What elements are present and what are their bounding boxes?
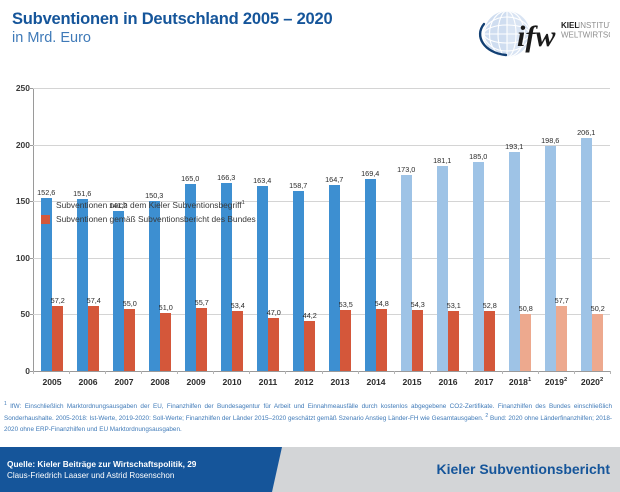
bar-orange-2016[interactable]: 53,1 bbox=[448, 311, 459, 371]
bar-value-label: 173,0 bbox=[397, 165, 415, 174]
bar-group: 206,150,2 bbox=[574, 88, 610, 371]
bar-group: 158,744,2 bbox=[286, 88, 322, 371]
bar-value-label: 164,7 bbox=[325, 175, 343, 184]
bar-group: 141,255,0 bbox=[106, 88, 142, 371]
x-axis-tick bbox=[33, 371, 34, 374]
x-axis-tick bbox=[141, 371, 142, 374]
bar-orange-2010[interactable]: 53,4 bbox=[232, 311, 243, 371]
x-axis-tick bbox=[394, 371, 395, 374]
bar-orange-2011[interactable]: 47,0 bbox=[268, 318, 279, 371]
x-axis-tick bbox=[538, 371, 539, 374]
bar-blue-2017[interactable]: 185,0 bbox=[473, 162, 484, 371]
bar-value-label: 53,1 bbox=[447, 301, 461, 310]
bar-value-label: 54,3 bbox=[411, 300, 425, 309]
y-axis-tick-label: 150 bbox=[4, 196, 30, 206]
bar-value-label: 53,4 bbox=[231, 301, 245, 310]
x-axis-label-2014: 2014 bbox=[358, 372, 394, 392]
bar-blue-2016[interactable]: 181,1 bbox=[437, 166, 448, 371]
bar-value-label: 57,2 bbox=[51, 296, 65, 305]
y-axis-tick-label: 250 bbox=[4, 83, 30, 93]
footnotes: 1 IfW: Einschließlich Marktordnungsausga… bbox=[4, 400, 612, 435]
bar-group: 169,454,8 bbox=[358, 88, 394, 371]
bar-orange-2012[interactable]: 44,2 bbox=[304, 321, 315, 371]
logo-line1-rest: INSTITUT FÜR bbox=[578, 21, 610, 30]
x-axis-label-2005: 2005 bbox=[34, 372, 70, 392]
page-subtitle: in Mrd. Euro bbox=[12, 30, 91, 46]
x-axis-tick bbox=[249, 371, 250, 374]
chart-legend: Subventionen nach dem Kieler Subventions… bbox=[41, 200, 256, 228]
x-axis-label-2012: 2012 bbox=[286, 372, 322, 392]
bar-orange-2019[interactable]: 57,7 bbox=[556, 306, 567, 371]
legend-swatch bbox=[41, 215, 50, 224]
bar-orange-2005[interactable]: 57,2 bbox=[52, 306, 63, 371]
bar-value-label: 158,7 bbox=[289, 181, 307, 190]
y-axis-tick-label: 100 bbox=[4, 253, 30, 263]
bar-value-label: 53,5 bbox=[339, 300, 353, 309]
bar-value-label: 193,1 bbox=[505, 142, 523, 151]
legend-label: Subventionen gemäß Subventionsbericht de… bbox=[56, 214, 256, 224]
bar-orange-2020[interactable]: 50,2 bbox=[592, 314, 603, 371]
logo-line1-bold: KIEL bbox=[561, 21, 579, 30]
globe-icon: ifw KIEL INSTITUT FÜR WELTWIRTSCHAFT bbox=[470, 6, 610, 64]
bar-orange-2006[interactable]: 57,4 bbox=[88, 306, 99, 371]
x-axis-label-2015: 2015 bbox=[394, 372, 430, 392]
x-axis-tick bbox=[502, 371, 503, 374]
x-axis-tick bbox=[466, 371, 467, 374]
ifw-logo: ifw KIEL INSTITUT FÜR WELTWIRTSCHAFT bbox=[470, 6, 610, 64]
legend-label: Subventionen nach dem Kieler Subventions… bbox=[56, 200, 245, 210]
x-axis-tick bbox=[69, 371, 70, 374]
x-axis-label-2010: 2010 bbox=[214, 372, 250, 392]
x-axis-tick bbox=[610, 371, 611, 374]
bar-value-label: 185,0 bbox=[469, 152, 487, 161]
x-axis-tick bbox=[105, 371, 106, 374]
x-axis-label-2009: 2009 bbox=[178, 372, 214, 392]
bar-value-label: 54,8 bbox=[375, 299, 389, 308]
logo-wordmark: ifw bbox=[517, 20, 556, 53]
x-axis-tick bbox=[430, 371, 431, 374]
x-axis-label-2016: 2016 bbox=[430, 372, 466, 392]
x-axis-label-2008: 2008 bbox=[142, 372, 178, 392]
footer-source-text: Quelle: Kieler Beiträge zur Wirtschaftsp… bbox=[7, 459, 196, 469]
y-axis-tick bbox=[29, 314, 33, 315]
bar-value-label: 206,1 bbox=[577, 128, 595, 137]
bar-value-label: 169,4 bbox=[361, 169, 379, 178]
bar-group: 173,054,3 bbox=[394, 88, 430, 371]
bar-value-label: 198,6 bbox=[541, 136, 559, 145]
bar-group: 163,447,0 bbox=[250, 88, 286, 371]
page-title: Subventionen in Deutschland 2005 – 2020 bbox=[12, 10, 332, 29]
footer-authors-text: Claus-Friedrich Laaser und Astrid Rosens… bbox=[7, 471, 174, 480]
y-axis-tick bbox=[29, 145, 33, 146]
bar-group: 198,657,7 bbox=[538, 88, 574, 371]
legend-swatch bbox=[41, 201, 50, 210]
x-axis-label-2011: 2011 bbox=[250, 372, 286, 392]
plot-area: 152,657,2151,657,4141,255,0150,351,0165,… bbox=[33, 88, 610, 371]
bar-group: 164,753,5 bbox=[322, 88, 358, 371]
bar-orange-2018[interactable]: 50,8 bbox=[520, 314, 531, 372]
bar-blue-2007[interactable]: 141,2 bbox=[113, 211, 124, 371]
bar-orange-2007[interactable]: 55,0 bbox=[124, 309, 135, 371]
chart-page: Subventionen in Deutschland 2005 – 2020 … bbox=[0, 0, 620, 492]
bar-value-label: 55,0 bbox=[123, 299, 137, 308]
bar-orange-2017[interactable]: 52,8 bbox=[484, 311, 495, 371]
y-axis-tick bbox=[29, 258, 33, 259]
x-axis-label-2007: 2007 bbox=[106, 372, 142, 392]
y-axis-tick bbox=[29, 88, 33, 89]
bar-group: 151,657,4 bbox=[70, 88, 106, 371]
bar-value-label: 151,6 bbox=[73, 189, 91, 198]
bar-value-label: 166,3 bbox=[217, 173, 235, 182]
bar-group: 193,150,8 bbox=[502, 88, 538, 371]
footer-divider bbox=[0, 440, 620, 441]
bar-blue-2019[interactable]: 198,6 bbox=[545, 146, 556, 371]
bar-orange-2014[interactable]: 54,8 bbox=[376, 309, 387, 371]
x-axis-tick bbox=[322, 371, 323, 374]
bar-value-label: 152,6 bbox=[37, 188, 55, 197]
y-axis-tick-label: 0 bbox=[4, 366, 30, 376]
x-axis-labels: 2005200620072008200920102011201220132014… bbox=[34, 372, 610, 392]
bar-group: 166,353,4 bbox=[214, 88, 250, 371]
y-axis-tick bbox=[29, 201, 33, 202]
x-axis-label-2013: 2013 bbox=[322, 372, 358, 392]
bar-groups: 152,657,2151,657,4141,255,0150,351,0165,… bbox=[34, 88, 610, 371]
x-axis-label-2019: 20192 bbox=[538, 372, 574, 392]
bar-chart: 050100150200250 152,657,2151,657,4141,25… bbox=[0, 88, 620, 393]
bar-value-label: 51,0 bbox=[159, 303, 173, 312]
bar-orange-2015[interactable]: 54,3 bbox=[412, 310, 423, 371]
y-axis-tick-label: 200 bbox=[4, 140, 30, 150]
bar-blue-2015[interactable]: 173,0 bbox=[401, 175, 412, 371]
x-axis-tick bbox=[213, 371, 214, 374]
y-axis-labels: 050100150200250 bbox=[0, 88, 30, 393]
x-axis-tick bbox=[285, 371, 286, 374]
bar-value-label: 55,7 bbox=[195, 298, 209, 307]
bar-group: 152,657,2 bbox=[34, 88, 70, 371]
bar-orange-2008[interactable]: 51,0 bbox=[160, 313, 171, 371]
bar-group: 185,052,8 bbox=[466, 88, 502, 371]
bar-value-label: 165,0 bbox=[181, 174, 199, 183]
bar-value-label: 50,8 bbox=[519, 304, 533, 313]
chart-header: Subventionen in Deutschland 2005 – 2020 … bbox=[0, 0, 620, 78]
bar-value-label: 57,7 bbox=[555, 296, 569, 305]
bar-group: 150,351,0 bbox=[142, 88, 178, 371]
bar-value-label: 50,2 bbox=[591, 304, 605, 313]
y-axis-tick-label: 50 bbox=[4, 309, 30, 319]
bar-blue-2013[interactable]: 164,7 bbox=[329, 185, 340, 371]
bar-group: 165,055,7 bbox=[178, 88, 214, 371]
bar-blue-2014[interactable]: 169,4 bbox=[365, 179, 376, 371]
x-axis-label-2020: 20202 bbox=[574, 372, 610, 392]
footer-source-panel bbox=[0, 447, 272, 492]
legend-item-0[interactable]: Subventionen nach dem Kieler Subventions… bbox=[41, 200, 256, 210]
x-axis-tick bbox=[574, 371, 575, 374]
logo-line2: WELTWIRTSCHAFT bbox=[561, 31, 610, 40]
bar-blue-2020[interactable]: 206,1 bbox=[581, 138, 592, 371]
bar-value-label: 57,4 bbox=[87, 296, 101, 305]
bar-value-label: 52,8 bbox=[483, 301, 497, 310]
bar-value-label: 47,0 bbox=[267, 308, 281, 317]
bar-group: 181,153,1 bbox=[430, 88, 466, 371]
chart-footer: Quelle: Kieler Beiträge zur Wirtschaftsp… bbox=[0, 447, 620, 492]
footer-report-title: Kieler Subventionsbericht bbox=[437, 461, 610, 477]
x-axis-tick bbox=[177, 371, 178, 374]
bar-value-label: 163,4 bbox=[253, 176, 271, 185]
bar-blue-2011[interactable]: 163,4 bbox=[257, 186, 268, 371]
bar-value-label: 181,1 bbox=[433, 156, 451, 165]
bar-value-label: 150,3 bbox=[145, 191, 163, 200]
bar-value-label: 44,2 bbox=[303, 311, 317, 320]
bar-orange-2013[interactable]: 53,5 bbox=[340, 310, 351, 371]
bar-blue-2012[interactable]: 158,7 bbox=[293, 191, 304, 371]
x-axis-label-2017: 2017 bbox=[466, 372, 502, 392]
bar-blue-2018[interactable]: 193,1 bbox=[509, 152, 520, 371]
legend-item-1[interactable]: Subventionen gemäß Subventionsbericht de… bbox=[41, 214, 256, 224]
x-axis-label-2018: 20181 bbox=[502, 372, 538, 392]
bar-orange-2009[interactable]: 55,7 bbox=[196, 308, 207, 371]
x-axis-tick bbox=[358, 371, 359, 374]
x-axis-label-2006: 2006 bbox=[70, 372, 106, 392]
